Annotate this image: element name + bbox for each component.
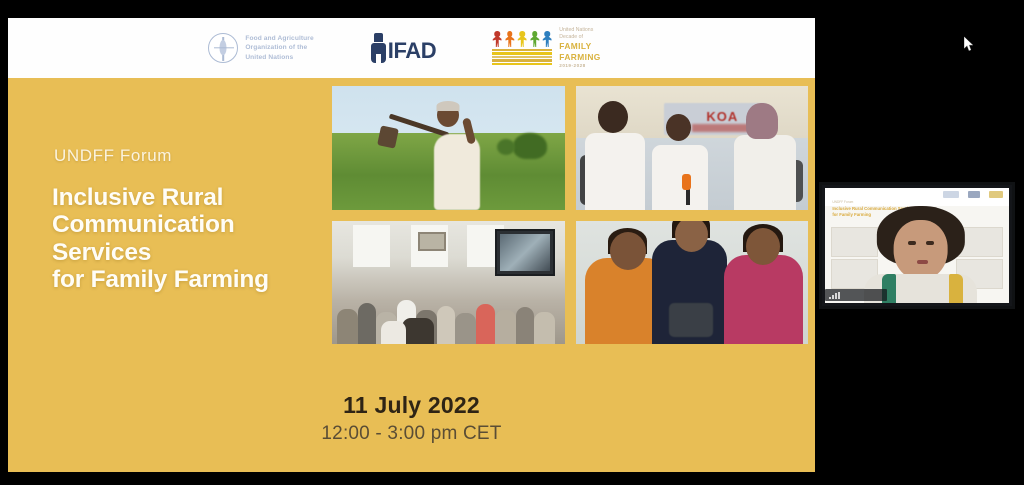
fao-logo-text: Food and Agriculture Organization of the…: [245, 34, 313, 61]
event-time: 12:00 - 3:00 pm CET: [8, 423, 815, 445]
dff-logo-text: United Nations Decade of FAMILY FARMING …: [559, 27, 600, 68]
ifad-figure-icon: [370, 33, 387, 63]
slide-photo-grid: KOA: [332, 86, 808, 344]
slide-date-block: 11 July 2022 12:00 - 3:00 pm CET: [8, 392, 815, 445]
photo-farmer-on-mobile-phone: [332, 86, 565, 210]
un-decade-family-farming-logo: United Nations Decade of FAMILY FARMING …: [492, 27, 600, 68]
ifad-wordmark: IFAD: [388, 40, 437, 63]
photo-women-with-device: [576, 221, 809, 345]
family-figures-icon: [492, 31, 552, 65]
event-date: 11 July 2022: [8, 392, 815, 419]
mini-eyebrow: UNDFF Forum: [832, 200, 853, 204]
fao-emblem-icon: [208, 33, 238, 63]
participant-name-label: [825, 289, 887, 301]
virtual-background: UNDFF Forum Inclusive Rural Communicatio…: [825, 188, 1009, 303]
mini-logos: [943, 191, 1003, 198]
photo-community-screening: [332, 221, 565, 345]
screen-share-stage: Food and Agriculture Organization of the…: [0, 0, 1024, 485]
ifad-logo: IFAD: [370, 33, 437, 63]
shared-slide[interactable]: Food and Agriculture Organization of the…: [8, 18, 815, 472]
slide-logo-header: Food and Agriculture Organization of the…: [8, 18, 815, 78]
photo-youth-radio-interview: KOA: [576, 86, 809, 210]
signal-bars-icon: [829, 292, 840, 299]
participant-person: [877, 206, 965, 303]
mouse-pointer-icon: [963, 36, 975, 52]
fao-logo: Food and Agriculture Organization of the…: [208, 33, 313, 63]
slide-eyebrow: UNDFF Forum: [54, 146, 172, 166]
participant-video-tile[interactable]: UNDFF Forum Inclusive Rural Communicatio…: [819, 182, 1015, 309]
slide-headline: Inclusive Rural Communication Services f…: [52, 184, 352, 294]
